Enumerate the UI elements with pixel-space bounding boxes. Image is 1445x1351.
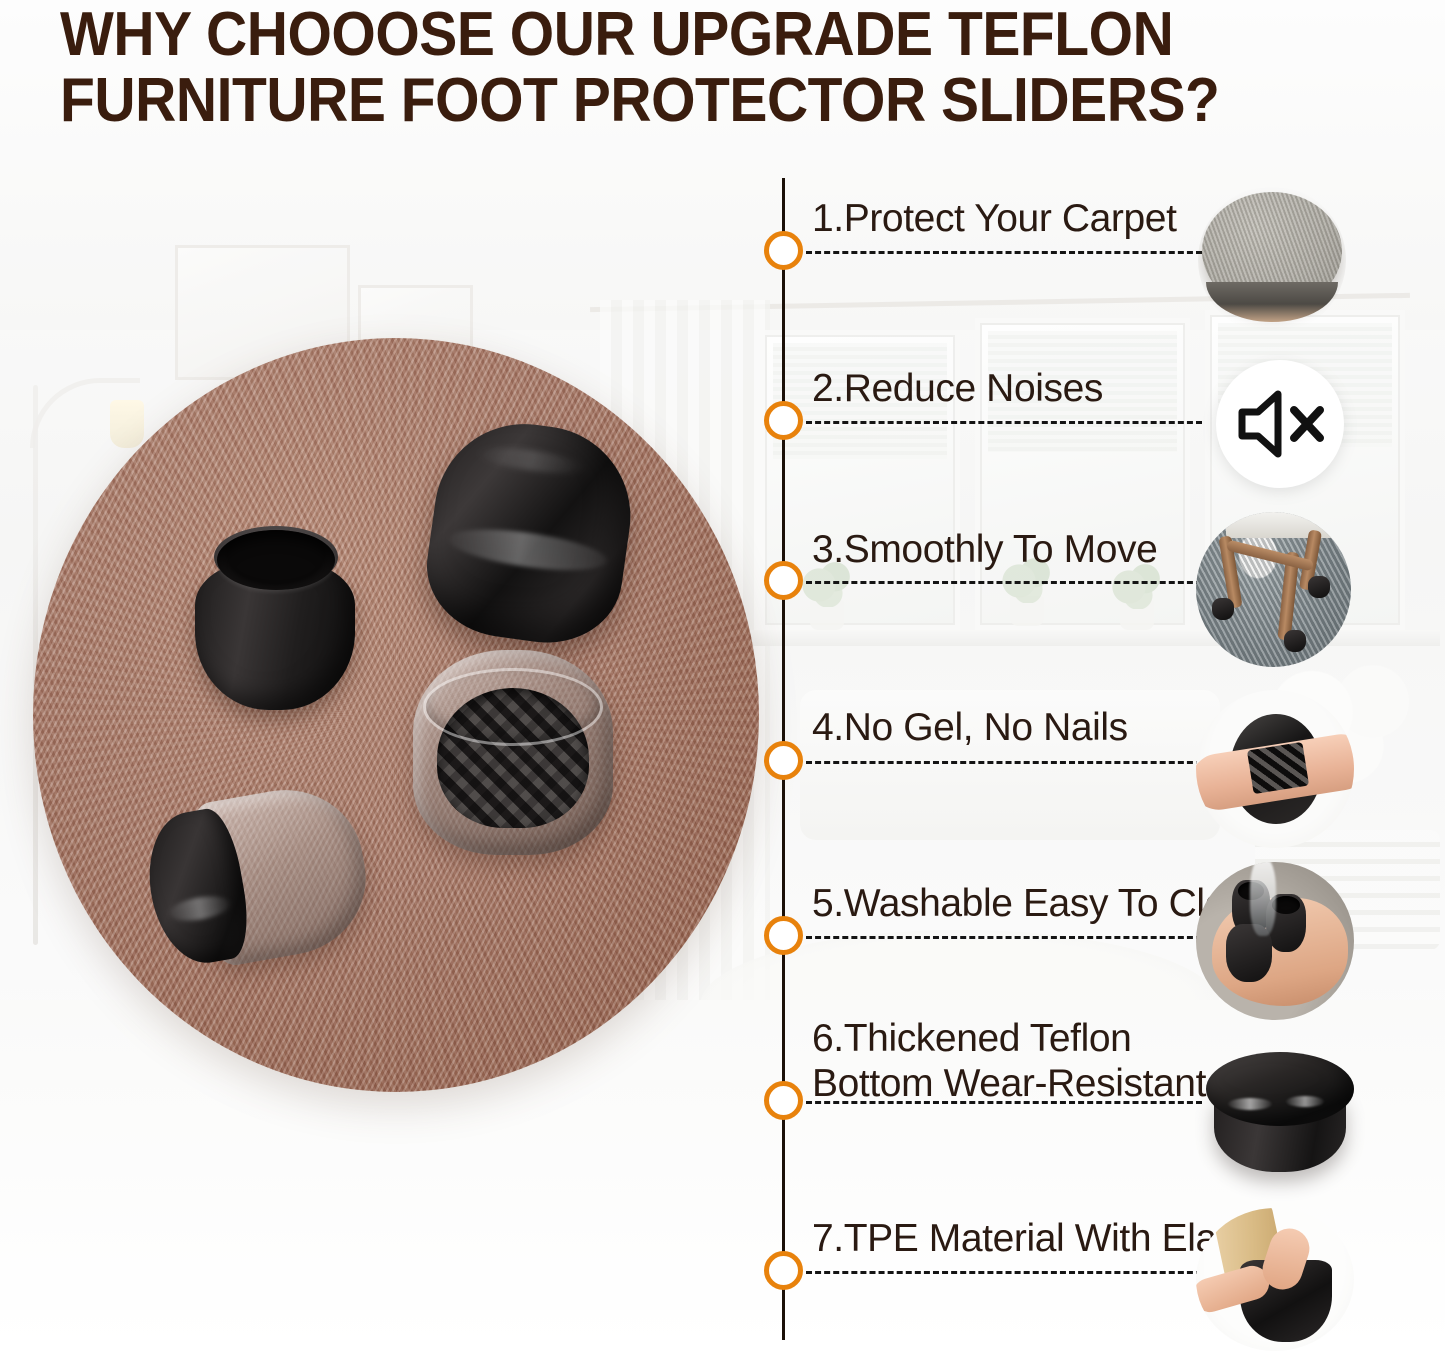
feature-label-1: 1.Protect Your Carpet	[812, 196, 1177, 241]
timeline-marker-3	[764, 561, 803, 600]
feature-label-2: 2.Reduce Noises	[812, 366, 1103, 411]
page-title: WHY CHOOOSE OUR UPGRADE TEFLON FURNITURE…	[60, 2, 1311, 134]
mute-speaker-icon	[1236, 388, 1324, 460]
thumbnail-stretching-cap-on-leg	[1196, 1208, 1354, 1351]
timeline-marker-6	[764, 1081, 803, 1120]
thumbnail-mute-speaker	[1216, 360, 1344, 488]
cap-upright-black	[195, 530, 355, 710]
leader-dashed-line-3	[806, 581, 1202, 584]
timeline-marker-5	[764, 916, 803, 955]
timeline-marker-4	[764, 741, 803, 780]
timeline-marker-1	[764, 231, 803, 270]
thumbnail-chair-legs-on-carpet	[1196, 512, 1351, 667]
timeline-marker-2	[764, 401, 803, 440]
leader-dashed-line-4	[806, 761, 1202, 764]
cap-clear-diamond-tread	[413, 650, 613, 855]
leader-dashed-line-1	[806, 251, 1202, 254]
round-carpet-backdrop	[33, 338, 759, 1092]
floor-lamp-bulb	[110, 400, 144, 448]
feature-label-3: 3.Smoothly To Move	[812, 527, 1157, 572]
thumbnail-arm-with-gripper	[1196, 690, 1354, 848]
thumbnail-black-cap	[1200, 1050, 1362, 1178]
thumbnail-carpet-pad-swatch	[1198, 186, 1346, 334]
leader-dashed-line-2	[806, 421, 1202, 424]
timeline-marker-7	[764, 1251, 803, 1290]
feature-label-6: 6.Thickened Teflon Bottom Wear-Resistant	[812, 1016, 1206, 1106]
thumbnail-washing-caps	[1196, 862, 1354, 1020]
leader-dashed-line-7	[806, 1271, 1202, 1274]
leader-dashed-line-5	[806, 936, 1202, 939]
cap-tipped-black	[418, 412, 642, 652]
feature-label-4: 4.No Gel, No Nails	[812, 705, 1128, 750]
